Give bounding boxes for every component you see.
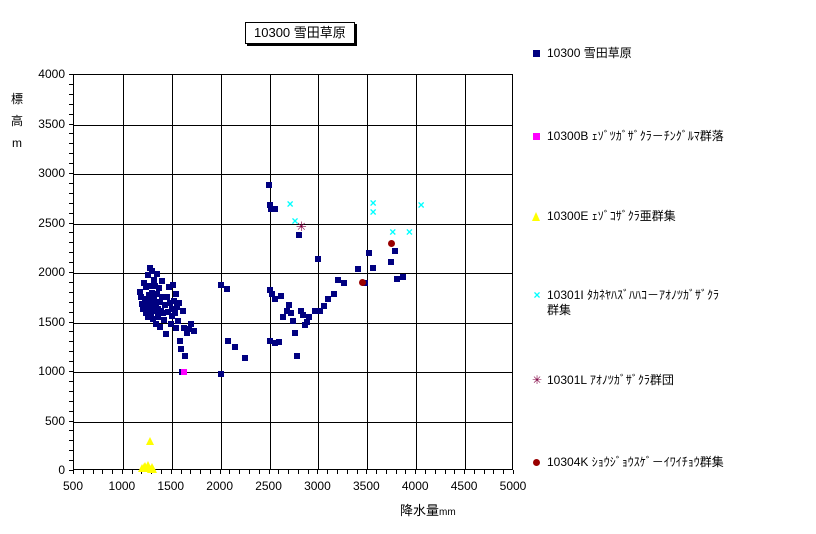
x-axis-tick xyxy=(278,470,279,474)
x-axis-tick xyxy=(259,470,260,474)
gridline-horizontal xyxy=(74,323,512,324)
legend-item-label: 10300E ｪｿﾞｺｻﾞｸﾗ亜群集 xyxy=(547,209,676,224)
x-axis-tick xyxy=(171,470,172,474)
y-axis-title-char: m xyxy=(8,132,26,154)
y-tick-label: 0 xyxy=(21,464,65,476)
data-point xyxy=(137,289,143,295)
data-point xyxy=(312,308,318,314)
data-point xyxy=(160,310,166,316)
data-point xyxy=(146,292,152,298)
gridline-horizontal xyxy=(74,224,512,225)
legend-marker-shape xyxy=(532,212,540,221)
x-axis-unit: mm xyxy=(439,507,456,518)
x-axis-tick xyxy=(239,470,240,474)
data-point xyxy=(331,291,337,297)
legend-item[interactable]: 10300E ｪｿﾞｺｻﾞｸﾗ亜群集 xyxy=(531,209,676,224)
data-point xyxy=(147,283,153,289)
data-point: × xyxy=(290,215,300,228)
legend-marker-square-icon xyxy=(531,129,545,143)
gridline-vertical xyxy=(367,75,368,469)
x-axis-tick xyxy=(396,470,397,474)
legend-item[interactable]: 10300B ｪｿﾞﾂｶﾞｻﾞｸﾗ－ﾁﾝｸﾞﾙﾏ群落 xyxy=(531,129,724,144)
y-tick-label: 2000 xyxy=(21,266,65,278)
data-point xyxy=(184,330,190,336)
data-point xyxy=(177,338,183,344)
data-point xyxy=(149,290,155,296)
data-point xyxy=(150,304,156,310)
y-axis-title-char: 標 xyxy=(8,88,26,110)
x-axis-tick xyxy=(484,470,485,474)
x-axis-tick xyxy=(503,470,504,474)
legend-item-label: 10301I ﾀｶﾈﾔﾊｽﾞﾊﾊｺ－ｱｵﾉﾂｶﾞｻﾞｸﾗ群集 xyxy=(547,288,719,318)
data-point xyxy=(300,312,306,318)
data-point xyxy=(161,317,167,323)
data-point xyxy=(272,340,278,346)
x-axis-tick xyxy=(229,470,230,474)
x-tick-label: 4500 xyxy=(439,480,489,492)
data-point xyxy=(159,294,165,300)
data-point xyxy=(153,300,159,306)
data-point xyxy=(143,464,151,472)
data-point xyxy=(148,463,156,471)
gridline-vertical xyxy=(172,75,173,469)
data-point xyxy=(276,339,282,345)
gridline-vertical xyxy=(123,75,124,469)
x-axis-tick xyxy=(161,470,162,474)
data-point xyxy=(335,277,341,283)
data-point xyxy=(225,338,231,344)
legend-marker-shape: × xyxy=(531,288,543,302)
x-tick-label: 3500 xyxy=(341,480,391,492)
data-point xyxy=(186,326,192,332)
y-tick-label: 2500 xyxy=(21,217,65,229)
data-point xyxy=(286,302,292,308)
data-point xyxy=(182,353,188,359)
plot-area: ×××××××✳ xyxy=(73,74,513,470)
data-point xyxy=(143,284,149,290)
data-point xyxy=(144,461,152,469)
data-point xyxy=(173,325,179,331)
x-axis-tick xyxy=(327,470,328,474)
data-point xyxy=(325,296,331,302)
data-point xyxy=(145,464,153,472)
data-point xyxy=(152,283,158,289)
data-point xyxy=(165,309,171,315)
data-point xyxy=(242,355,248,361)
data-point xyxy=(156,285,162,291)
x-tick-label: 1500 xyxy=(146,480,196,492)
data-point xyxy=(284,308,290,314)
data-point xyxy=(157,299,163,305)
x-axis-tick xyxy=(112,470,113,474)
data-point xyxy=(278,293,284,299)
y-axis-tick xyxy=(69,470,73,471)
data-point xyxy=(272,296,278,302)
x-axis-tick xyxy=(425,470,426,474)
data-point: × xyxy=(368,206,378,219)
data-point xyxy=(163,331,169,337)
data-point xyxy=(178,346,184,352)
x-axis-tick xyxy=(337,470,338,474)
data-point xyxy=(292,330,298,336)
gridline-vertical xyxy=(221,75,222,469)
data-point xyxy=(154,291,160,297)
legend-item[interactable]: 10300 雪田草原 xyxy=(531,46,632,61)
data-point xyxy=(151,294,157,300)
data-point xyxy=(159,278,165,284)
y-tick-label: 4000 xyxy=(21,68,65,80)
data-point: × xyxy=(404,226,414,239)
data-point xyxy=(272,206,278,212)
x-tick-label: 1000 xyxy=(97,480,147,492)
legend-marker-shape xyxy=(533,459,540,466)
data-point xyxy=(147,265,153,271)
x-axis-tick xyxy=(269,470,270,474)
gridline-horizontal xyxy=(74,125,512,126)
x-axis-tick xyxy=(190,470,191,474)
y-tick-label: 3500 xyxy=(21,118,65,130)
data-point xyxy=(294,353,300,359)
x-axis-tick xyxy=(288,470,289,474)
x-axis-tick xyxy=(83,470,84,474)
x-axis-tick xyxy=(200,470,201,474)
x-axis-tick xyxy=(220,470,221,474)
data-point xyxy=(191,328,197,334)
data-point xyxy=(280,314,286,320)
data-point: × xyxy=(368,197,378,210)
data-point xyxy=(232,344,238,350)
legend-marker-square-icon xyxy=(531,46,545,60)
data-point xyxy=(298,308,304,314)
x-axis-tick xyxy=(317,470,318,474)
legend-item[interactable]: 10304K ｼｮｳｼﾞｮｳｽｹﾞ－ｲﾜｲﾁｮｳ群集 xyxy=(531,455,724,470)
data-point xyxy=(394,276,400,282)
gridline-vertical xyxy=(465,75,466,469)
data-point xyxy=(151,277,157,283)
x-axis-tick xyxy=(357,470,358,474)
data-point xyxy=(145,314,151,320)
data-point xyxy=(306,314,312,320)
x-tick-label: 2000 xyxy=(195,480,245,492)
x-axis-tick xyxy=(454,470,455,474)
data-point: ✳ xyxy=(296,220,306,233)
data-point xyxy=(288,310,294,316)
data-point: × xyxy=(388,226,398,239)
x-axis-tick xyxy=(474,470,475,474)
data-point xyxy=(143,310,149,316)
data-point xyxy=(140,463,148,471)
x-axis-tick xyxy=(102,470,103,474)
legend-marker-triangle-icon xyxy=(531,209,545,223)
data-point xyxy=(164,294,170,300)
x-axis-tick xyxy=(435,470,436,474)
x-axis-tick xyxy=(513,470,514,474)
x-axis-tick xyxy=(376,470,377,474)
chart-title: 10300 雪田草原 xyxy=(245,22,355,44)
data-point xyxy=(166,284,172,290)
x-axis-tick xyxy=(249,470,250,474)
legend-marker-circle-icon xyxy=(531,455,545,469)
legend-item[interactable]: ×10301I ﾀｶﾈﾔﾊｽﾞﾊﾊｺ－ｱｵﾉﾂｶﾞｻﾞｸﾗ群集 xyxy=(531,288,719,318)
data-point: × xyxy=(285,198,295,211)
data-point xyxy=(155,306,161,312)
x-axis-tick xyxy=(141,470,142,474)
x-axis-tick xyxy=(405,470,406,474)
legend-marker-shape xyxy=(533,50,540,57)
data-point xyxy=(392,248,398,254)
data-point xyxy=(321,303,327,309)
x-axis-tick xyxy=(73,470,74,474)
x-axis-tick xyxy=(298,470,299,474)
x-axis-tick xyxy=(415,470,416,474)
data-point: × xyxy=(416,199,426,212)
data-point xyxy=(152,308,158,314)
data-point xyxy=(158,308,164,314)
x-tick-label: 5000 xyxy=(488,480,538,492)
data-point xyxy=(224,286,230,292)
data-point xyxy=(141,280,147,286)
x-tick-label: 2500 xyxy=(244,480,294,492)
x-axis-tick xyxy=(151,470,152,474)
data-point xyxy=(180,308,186,314)
x-axis-tick xyxy=(93,470,94,474)
x-axis-title-text: 降水量 xyxy=(400,503,439,518)
data-point xyxy=(146,437,154,445)
data-point xyxy=(359,279,366,286)
data-point xyxy=(296,232,302,238)
x-tick-label: 500 xyxy=(48,480,98,492)
x-axis-tick xyxy=(181,470,182,474)
data-point xyxy=(146,305,152,311)
x-axis-tick xyxy=(210,470,211,474)
data-point xyxy=(157,324,163,330)
data-point xyxy=(140,306,146,312)
x-axis-tick xyxy=(132,470,133,474)
data-point xyxy=(148,298,154,304)
y-tick-label: 3000 xyxy=(21,167,65,179)
gridline-vertical xyxy=(270,75,271,469)
legend-item-label: 10304K ｼｮｳｼﾞｮｳｽｹﾞ－ｲﾜｲﾁｮｳ群集 xyxy=(547,455,724,470)
x-axis-title: 降水量mm xyxy=(400,503,456,520)
data-point xyxy=(181,325,187,331)
legend-item-label: 10301L ｱｵﾉﾂｶﾞｻﾞｸﾗ群団 xyxy=(547,373,674,388)
legend-marker-star-icon: ✳ xyxy=(531,373,545,387)
y-tick-label: 500 xyxy=(21,415,65,427)
data-point xyxy=(144,301,150,307)
x-axis-tick xyxy=(386,470,387,474)
y-tick-label: 1000 xyxy=(21,365,65,377)
gridline-horizontal xyxy=(74,372,512,373)
data-point xyxy=(173,291,179,297)
chart-root: 10300 雪田草原 標高m 降水量mm 0500100015002000250… xyxy=(0,0,816,534)
x-axis-tick xyxy=(122,470,123,474)
data-point xyxy=(388,259,394,265)
data-point xyxy=(174,304,180,310)
legend-item[interactable]: ✳10301L ｱｵﾉﾂｶﾞｻﾞｸﾗ群団 xyxy=(531,373,674,388)
data-point xyxy=(141,462,149,470)
x-axis-tick xyxy=(445,470,446,474)
legend-item-label: 10300B ｪｿﾞﾂｶﾞｻﾞｸﾗ－ﾁﾝｸﾞﾙﾏ群落 xyxy=(547,129,724,144)
data-point xyxy=(176,300,182,306)
x-axis-tick xyxy=(308,470,309,474)
gridline-horizontal xyxy=(74,422,512,423)
y-tick-label: 1500 xyxy=(21,316,65,328)
legend-marker-shape: ✳ xyxy=(531,373,543,387)
data-point xyxy=(341,280,347,286)
gridline-horizontal xyxy=(74,273,512,274)
data-point xyxy=(150,316,156,322)
legend-item-label: 10300 雪田草原 xyxy=(547,46,632,61)
data-point xyxy=(355,266,361,272)
data-point xyxy=(400,274,406,280)
gridline-vertical xyxy=(318,75,319,469)
legend-marker-shape xyxy=(533,133,540,140)
x-axis-tick xyxy=(347,470,348,474)
x-axis-tick xyxy=(464,470,465,474)
data-point xyxy=(370,265,376,271)
x-axis-tick xyxy=(366,470,367,474)
gridline-horizontal xyxy=(74,174,512,175)
data-point xyxy=(138,294,144,300)
data-point xyxy=(142,296,148,302)
x-tick-label: 3000 xyxy=(292,480,342,492)
data-point xyxy=(139,301,145,307)
data-point xyxy=(148,311,154,317)
data-point xyxy=(155,314,161,320)
data-point xyxy=(162,302,168,308)
x-tick-label: 4000 xyxy=(390,480,440,492)
legend-marker-x-icon: × xyxy=(531,288,545,302)
gridline-vertical xyxy=(416,75,417,469)
data-point xyxy=(388,240,395,247)
x-axis-tick xyxy=(493,470,494,474)
